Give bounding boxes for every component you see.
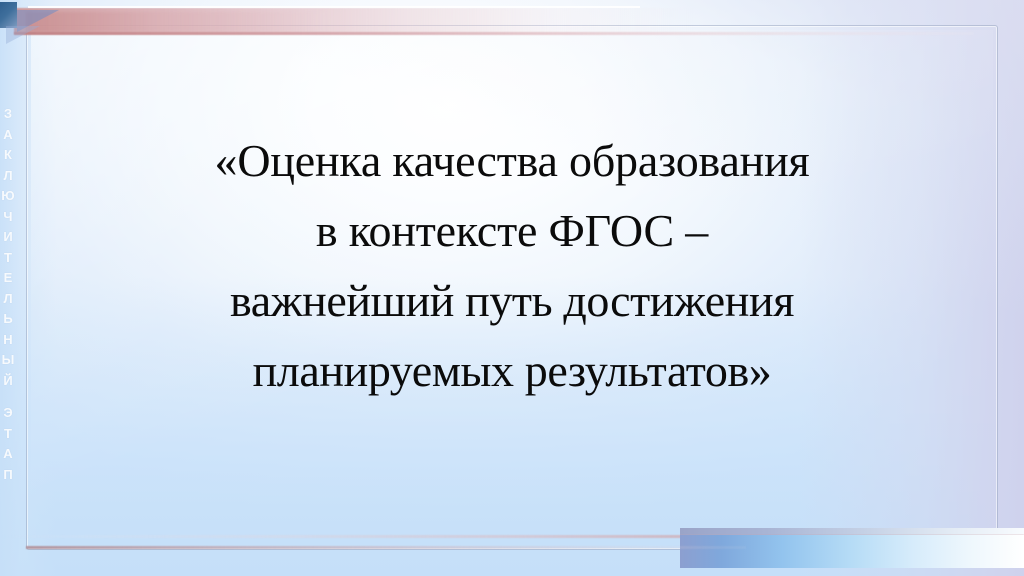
vertical-side-label: З А К Л Ю Ч И Т Е Л Ь Н Ы Й Э Т А П <box>0 104 19 485</box>
slide-title: «Оценка качества образования в контексте… <box>40 126 984 406</box>
side-label-char: Э <box>0 403 19 424</box>
side-label-char: И <box>0 227 19 248</box>
side-label-char: Ь <box>0 309 19 330</box>
side-label-char: П <box>0 465 19 486</box>
side-label-space <box>0 391 19 403</box>
side-label-char: Й <box>0 371 19 392</box>
bottom-right-bar-top <box>680 528 1024 535</box>
side-label-char: Т <box>0 248 19 269</box>
side-label-char: Т <box>0 424 19 445</box>
top-highlight-line <box>28 6 640 8</box>
side-label-char: А <box>0 125 19 146</box>
slide-title-line: в контексте ФГОС – <box>40 196 984 266</box>
side-label-char: Ч <box>0 207 19 228</box>
slide-title-line: важнейший путь достижения <box>40 266 984 336</box>
side-label-char: Л <box>0 289 19 310</box>
top-left-corner-block <box>0 2 17 28</box>
bottom-right-gradient-bar <box>680 535 1024 568</box>
side-label-char: Л <box>0 166 19 187</box>
presentation-slide: З А К Л Ю Ч И Т Е Л Ь Н Ы Й Э Т А П «Оце… <box>0 0 1024 576</box>
side-label-char: А <box>0 444 19 465</box>
top-left-corner-wedge-secondary <box>6 26 40 44</box>
top-rose-band-secondary <box>26 12 326 32</box>
side-label-char: Ю <box>0 186 19 207</box>
side-label-char: З <box>0 104 19 125</box>
slide-title-line: планируемых результатов» <box>40 336 984 406</box>
side-label-char: К <box>0 145 19 166</box>
bottom-left-rose-rule <box>26 546 746 549</box>
side-label-char: Н <box>0 330 19 351</box>
side-label-char: Е <box>0 268 19 289</box>
side-label-char: Ы <box>0 350 19 371</box>
top-rose-rule <box>14 32 974 35</box>
slide-title-line: «Оценка качества образования <box>40 126 984 196</box>
